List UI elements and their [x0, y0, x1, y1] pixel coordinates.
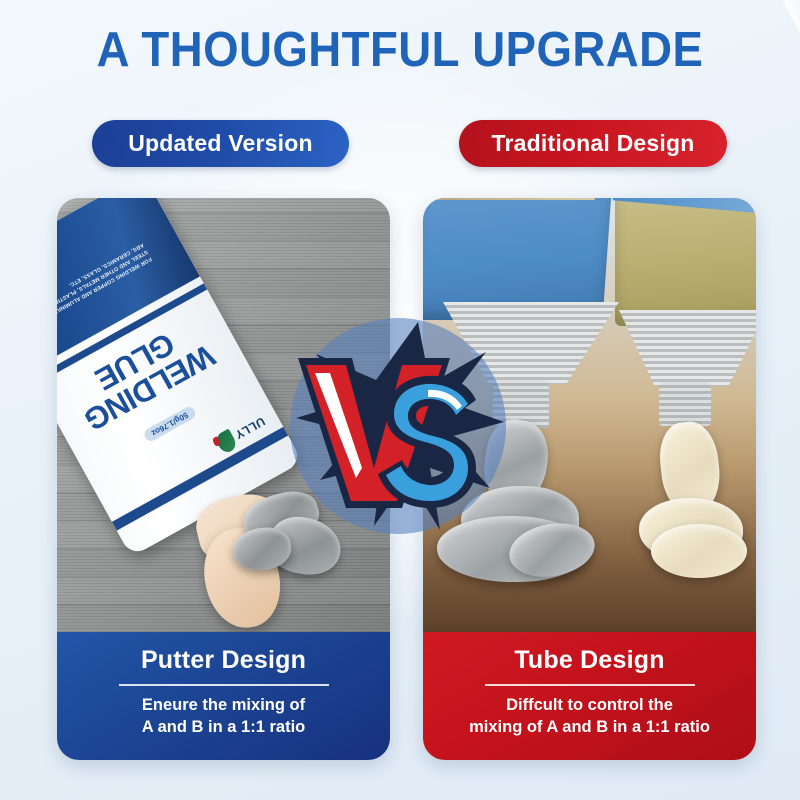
tube-rim: [423, 198, 595, 200]
label-block-putter: Putter Design Eneure the mixing of A and…: [57, 632, 390, 760]
tube-net-weight: 50g/1.76oz: [142, 405, 198, 444]
label-title-putter: Putter Design: [73, 646, 374, 675]
nozzle-neck-right: [659, 382, 711, 426]
background-band: [0, 468, 5, 800]
label-divider: [119, 684, 329, 686]
badge-traditional-design-label: Traditional Design: [492, 130, 695, 157]
cream-paste-pile: [651, 524, 747, 578]
label-description-line: Diffcult to control the: [439, 695, 740, 717]
badge-traditional-design: Traditional Design: [459, 120, 727, 167]
background-band: [795, 468, 800, 800]
versus-badge: [290, 318, 506, 534]
product-comparison-poster: A THOUGHTFUL UPGRADE Updated Version Tra…: [0, 0, 800, 800]
page-title: A THOUGHTFUL UPGRADE: [28, 26, 772, 75]
label-block-tube: Tube Design Diffcult to control the mixi…: [423, 632, 756, 760]
label-description-line: Eneure the mixing of: [73, 695, 374, 717]
gold-squeeze-tube: [615, 198, 756, 326]
label-description-tube: Diffcult to control the mixing of A and …: [439, 695, 740, 739]
badge-updated-version-label: Updated Version: [128, 130, 312, 157]
background-band: [0, 0, 1, 463]
versus-graphic: [290, 318, 506, 534]
label-title-tube: Tube Design: [439, 646, 740, 675]
blue-squeeze-tube: [423, 198, 611, 320]
label-description-line: A and B in a 1:1 ratio: [73, 717, 374, 739]
label-description-line: mixing of A and B in a 1:1 ratio: [439, 717, 740, 739]
label-description-putter: Eneure the mixing of A and B in a 1:1 ra…: [73, 695, 374, 739]
label-divider: [485, 684, 695, 686]
badge-updated-version: Updated Version: [92, 120, 349, 167]
